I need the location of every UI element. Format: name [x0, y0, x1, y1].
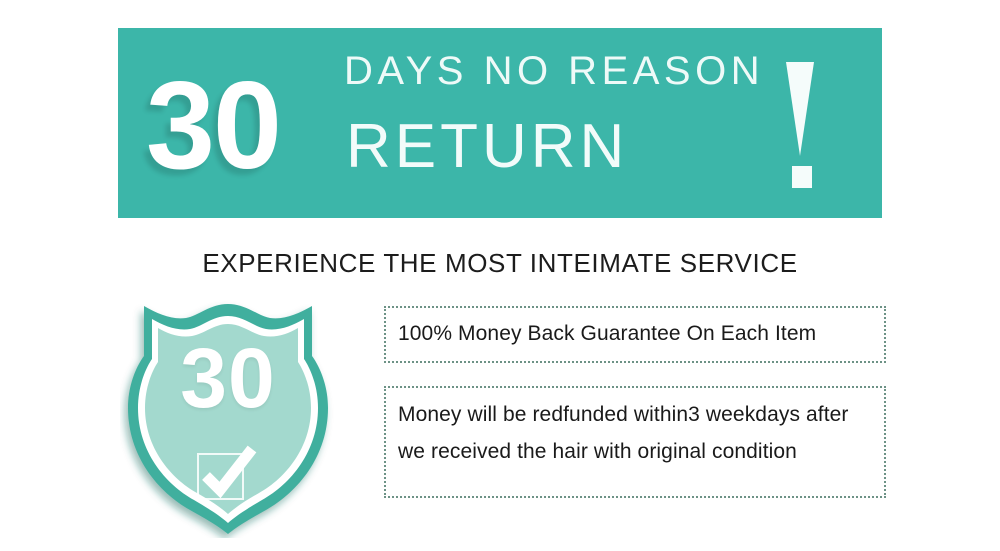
service-subtitle: EXPERIENCE THE MOST INTEIMATE SERVICE [0, 249, 1000, 278]
shield-days-number: 30 [120, 336, 336, 420]
exclamation-mark-icon: ! [766, 62, 836, 192]
banner-headline-top: DAYS NO REASON [344, 51, 764, 91]
promise-box-refund-window: Money will be redfunded within3 weekdays… [384, 386, 886, 498]
exclamation-stem [786, 62, 814, 156]
promise-text: Money will be redfunded within3 weekdays… [386, 388, 884, 471]
promise-box-money-back: 100% Money Back Guarantee On Each Item [384, 306, 886, 363]
banner-days-number: 30 [146, 64, 280, 188]
guarantee-shield-badge: 30 [120, 296, 336, 538]
return-policy-banner-page: 30 DAYS NO REASON RETURN ! EXPERIENCE TH… [0, 0, 1000, 551]
promise-text: 100% Money Back Guarantee On Each Item [386, 316, 828, 353]
checkmark-in-box-icon [196, 444, 258, 502]
banner-headline-bottom: RETURN [346, 116, 628, 178]
hero-banner: 30 DAYS NO REASON RETURN ! [118, 28, 882, 218]
exclamation-dot [792, 166, 812, 188]
